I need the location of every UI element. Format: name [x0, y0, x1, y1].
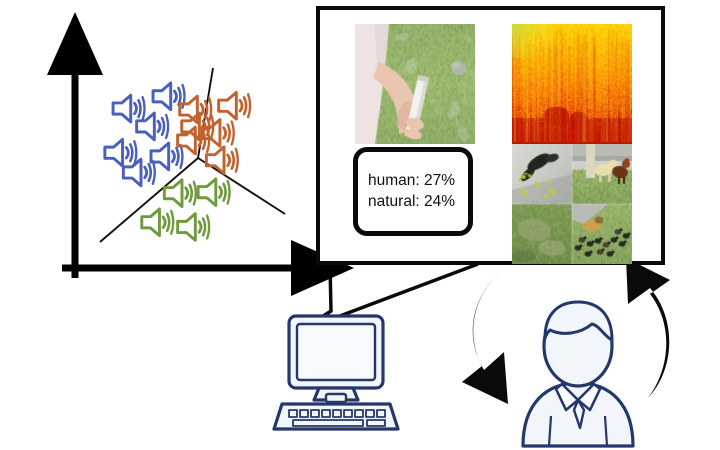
- thumb-human-activity-video: [355, 24, 475, 144]
- figure-canvas: human: 27% natural: 24%: [0, 0, 720, 450]
- speaker-icon: [142, 209, 173, 236]
- speaker-icon: [137, 113, 168, 140]
- speaker-markers: [105, 83, 250, 240]
- prediction-line-natural: natural: 24%: [368, 192, 468, 213]
- person-icon: [523, 302, 633, 446]
- speaker-icon: [198, 179, 229, 206]
- monitor-base: [326, 394, 346, 402]
- monitor-screen: [297, 324, 375, 380]
- label-to-model-arrow: [626, 258, 670, 398]
- computer-icon: [274, 316, 398, 429]
- thumb-spectrogram: [512, 24, 632, 144]
- thumb-nature-video-grid: [512, 144, 632, 264]
- speaker-icon: [178, 214, 209, 241]
- query-to-human-arrow: [462, 272, 508, 404]
- prediction-card: human: 27% natural: 24%: [353, 147, 473, 236]
- speaker-icon: [206, 147, 237, 174]
- speaker-icon: [113, 95, 144, 122]
- prediction-line-human: human: 27%: [368, 171, 468, 192]
- speaker-icon: [105, 139, 136, 166]
- speaker-icon: [219, 92, 250, 119]
